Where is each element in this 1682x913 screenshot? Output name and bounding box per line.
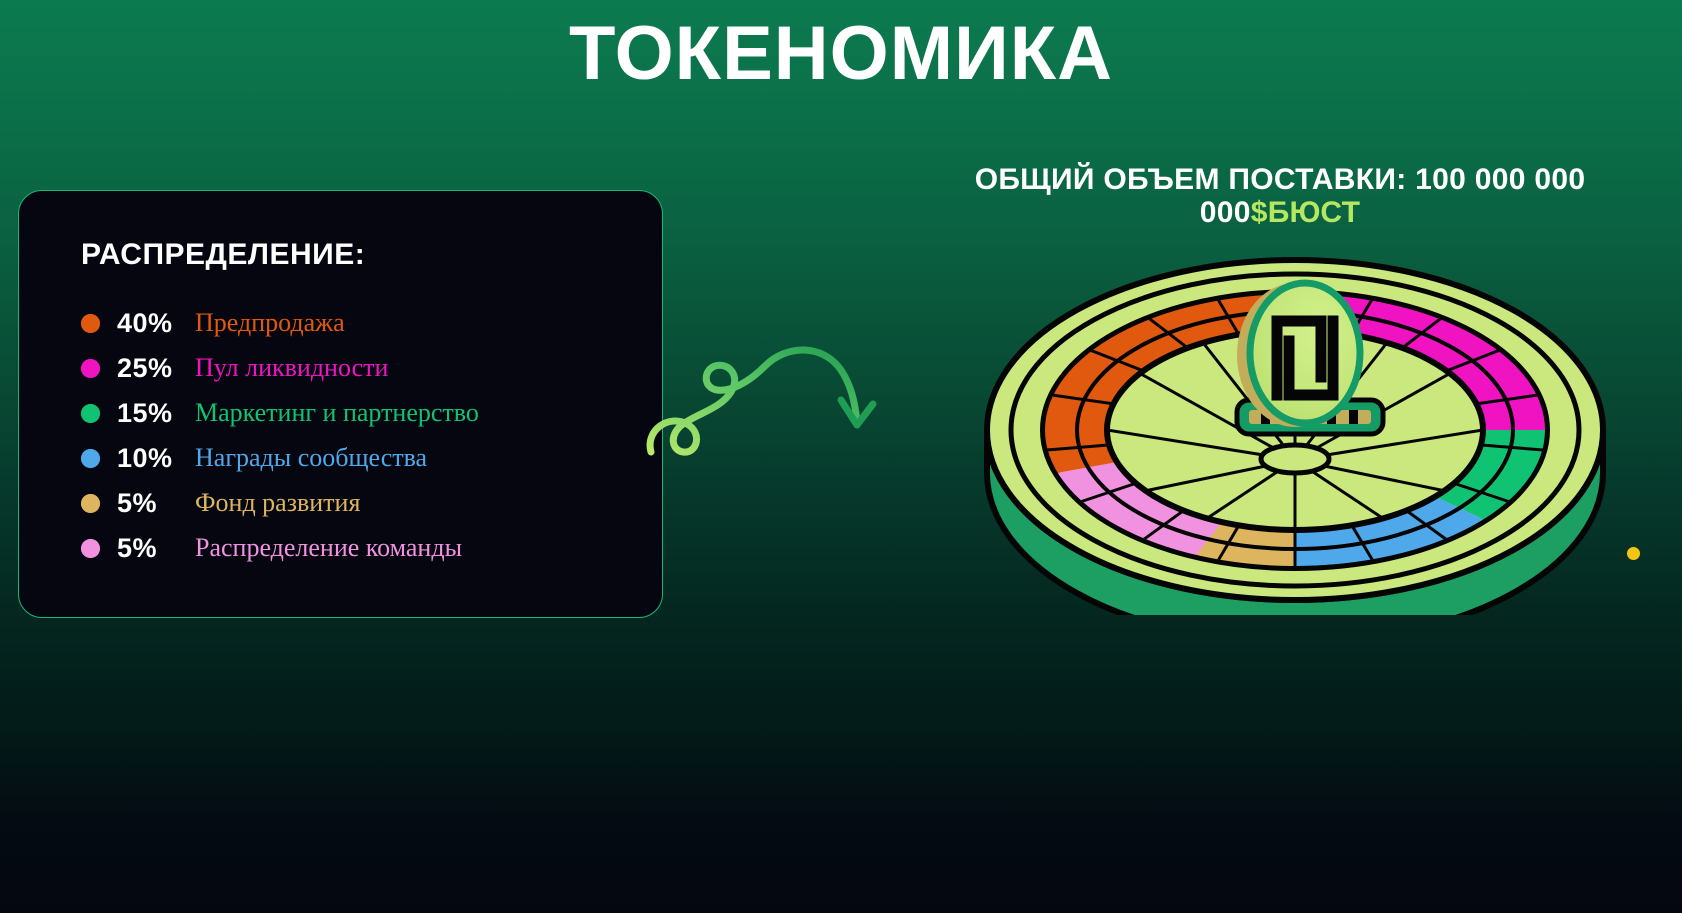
token-ticker: $БЮСТ [1251, 196, 1361, 229]
legend-label: Маркетинг и партнерство [195, 399, 479, 428]
legend-percent: 15% [117, 398, 195, 429]
list-item: 10% Награды сообщества [81, 436, 642, 481]
color-swatch-icon [81, 359, 100, 378]
legend-label: Распределение команды [195, 534, 462, 563]
distribution-card: РАСПРЕДЕЛЕНИЕ: 40% Предпродажа 25% Пул л… [18, 190, 663, 618]
color-swatch-icon [81, 314, 100, 333]
legend-percent: 40% [117, 308, 195, 339]
roulette-wheel-illustration [965, 245, 1625, 615]
token-coin [1237, 283, 1360, 427]
legend-label: Фонд развития [195, 489, 360, 518]
distribution-heading: РАСПРЕДЕЛЕНИЕ: [81, 238, 365, 272]
legend-percent: 25% [117, 353, 195, 384]
total-supply-heading: ОБЩИЙ ОБЪЕМ ПОСТАВКИ: 100 000 000 000$БЮ… [955, 163, 1605, 229]
legend-percent: 10% [117, 443, 195, 474]
legend-percent: 5% [117, 533, 195, 564]
tokenomics-slide: ТОКЕНОМИКА РАСПРЕДЕЛЕНИЕ: 40% Предпродаж… [0, 0, 1682, 913]
list-item: 5% Распределение команды [81, 526, 642, 571]
coin-face [1250, 283, 1360, 423]
list-item: 25% Пул ликвидности [81, 346, 642, 391]
color-swatch-icon [81, 404, 100, 423]
total-supply-line1: ОБЩИЙ ОБЪЕМ ПОСТАВКИ: 100 000 000 [975, 163, 1586, 196]
legend-label: Пул ликвидности [195, 354, 388, 383]
legend-label: Награды сообщества [195, 444, 427, 473]
curly-arrow-icon [645, 330, 895, 470]
page-title: ТОКЕНОМИКА [0, 16, 1682, 92]
legend-percent: 5% [117, 488, 195, 519]
legend-label: Предпродажа [195, 309, 345, 338]
color-swatch-icon [81, 494, 100, 513]
list-item: 40% Предпродажа [81, 301, 642, 346]
wheel-hub [1261, 445, 1329, 473]
color-swatch-icon [81, 539, 100, 558]
list-item: 5% Фонд развития [81, 481, 642, 526]
total-supply-amount-tail: 000 [1200, 196, 1251, 229]
list-item: 15% Маркетинг и партнерство [81, 391, 642, 436]
roulette-ball-icon [1627, 547, 1640, 560]
distribution-list: 40% Предпродажа 25% Пул ликвидности 15% … [81, 301, 642, 571]
color-swatch-icon [81, 449, 100, 468]
